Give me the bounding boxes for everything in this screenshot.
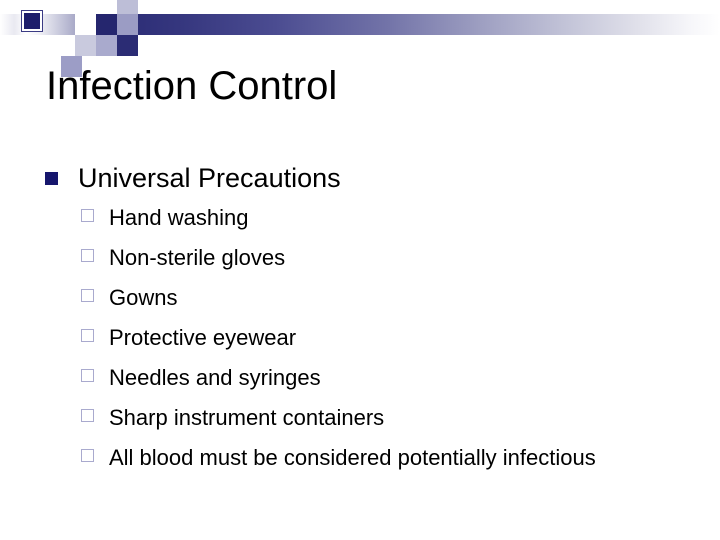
list-item: Hand washing [44,202,684,233]
list-item-label: Gowns [109,282,684,313]
list-item: Protective eyewear [44,322,684,353]
square-bullet-icon [45,172,58,185]
mosaic-square-white-upper [75,14,96,35]
hollow-square-bullet-icon [81,449,94,462]
bullet-level1-universal-precautions: Universal Precautions [44,158,684,198]
list-item-label: Needles and syringes [109,362,684,393]
list-item: All blood must be considered potentially… [44,442,644,473]
hollow-square-bullet-icon [81,249,94,262]
mosaic-square-navy-upper [96,14,117,35]
hollow-square-bullet-icon [81,209,94,222]
page-title: Infection Control [46,62,686,110]
sub-bullet-list: Hand washing Non-sterile gloves Gowns Pr… [44,202,684,473]
list-item-label: Sharp instrument containers [109,402,684,433]
hollow-square-bullet-icon [81,289,94,302]
list-item: Sharp instrument containers [44,402,684,433]
list-item: Gowns [44,282,684,313]
hollow-square-bullet-icon [81,369,94,382]
mosaic-mask-top-left [0,0,22,14]
hollow-square-bullet-icon [81,329,94,342]
list-item-label: Protective eyewear [109,322,684,353]
list-item-label: Non-sterile gloves [109,242,684,273]
list-item: Non-sterile gloves [44,242,684,273]
slide-header-decoration [0,0,720,48]
slide-body: Universal Precautions Hand washing Non-s… [44,158,684,482]
list-item-label: Hand washing [109,202,684,233]
mosaic-square-navy-lower [117,35,138,56]
hollow-square-bullet-icon [81,409,94,422]
list-item-label: All blood must be considered potentially… [109,442,644,473]
mosaic-square-lavender-mid [96,35,117,56]
mosaic-square-accent-navy [22,11,42,31]
bullet-level1-label: Universal Precautions [78,163,341,193]
mosaic-square-pale-lower [75,35,96,56]
list-item: Needles and syringes [44,362,684,393]
mosaic-square-pale-top [117,0,138,14]
mosaic-square-lavender-upper [117,14,138,35]
slide-canvas: Infection Control Universal Precautions … [0,0,720,540]
